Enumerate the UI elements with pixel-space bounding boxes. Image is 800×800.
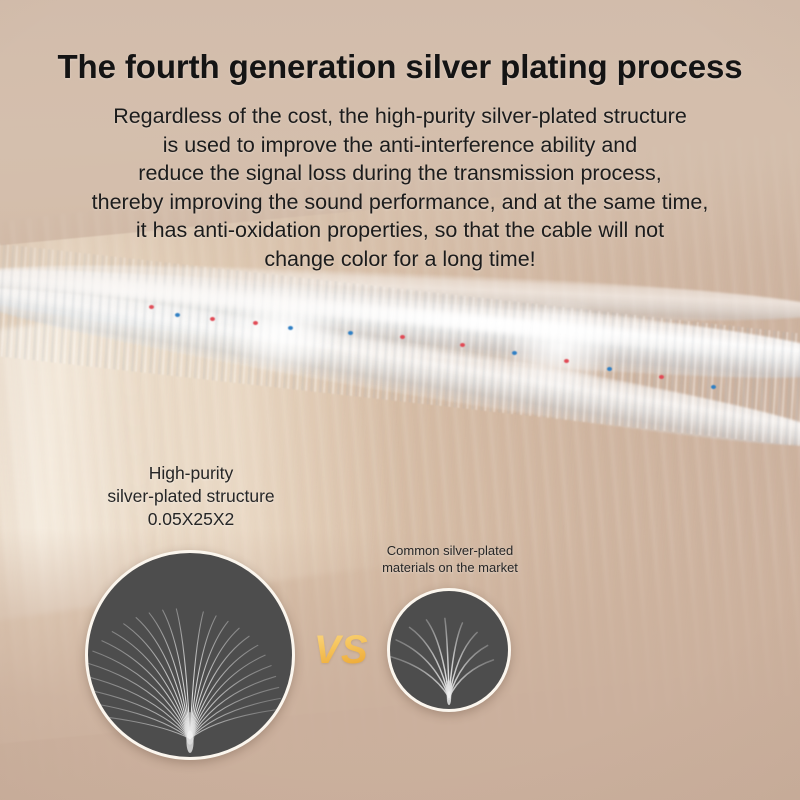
left-sample-label-line: 0.05X25X2 bbox=[66, 508, 316, 531]
common-material-strand-fan bbox=[390, 591, 508, 709]
left-sample-label-line: High-purity bbox=[66, 462, 316, 485]
high-purity-strand-fan bbox=[88, 553, 292, 757]
product-feature-poster: The fourth generation silver plating pro… bbox=[0, 0, 800, 800]
right-sample-label-line: materials on the market bbox=[352, 559, 548, 576]
high-purity-sample-circle bbox=[85, 550, 295, 760]
left-sample-label-line: silver-plated structure bbox=[66, 485, 316, 508]
description-line: is used to improve the anti-interference… bbox=[52, 131, 748, 160]
right-sample-label-line: Common silver-plated bbox=[352, 542, 548, 559]
common-material-sample-circle bbox=[387, 588, 511, 712]
description-paragraph: Regardless of the cost, the high-purity … bbox=[52, 102, 748, 273]
description-line: Regardless of the cost, the high-purity … bbox=[52, 102, 748, 131]
right-sample-label: Common silver-plated materials on the ma… bbox=[352, 542, 548, 576]
versus-badge: VS bbox=[307, 628, 375, 673]
description-line: change color for a long time! bbox=[52, 245, 748, 274]
description-line: reduce the signal loss during the transm… bbox=[52, 159, 748, 188]
left-sample-label: High-purity silver-plated structure 0.05… bbox=[66, 462, 316, 531]
description-line: it has anti-oxidation properties, so tha… bbox=[52, 216, 748, 245]
description-line: thereby improving the sound performance,… bbox=[52, 188, 748, 217]
page-title: The fourth generation silver plating pro… bbox=[0, 48, 800, 86]
